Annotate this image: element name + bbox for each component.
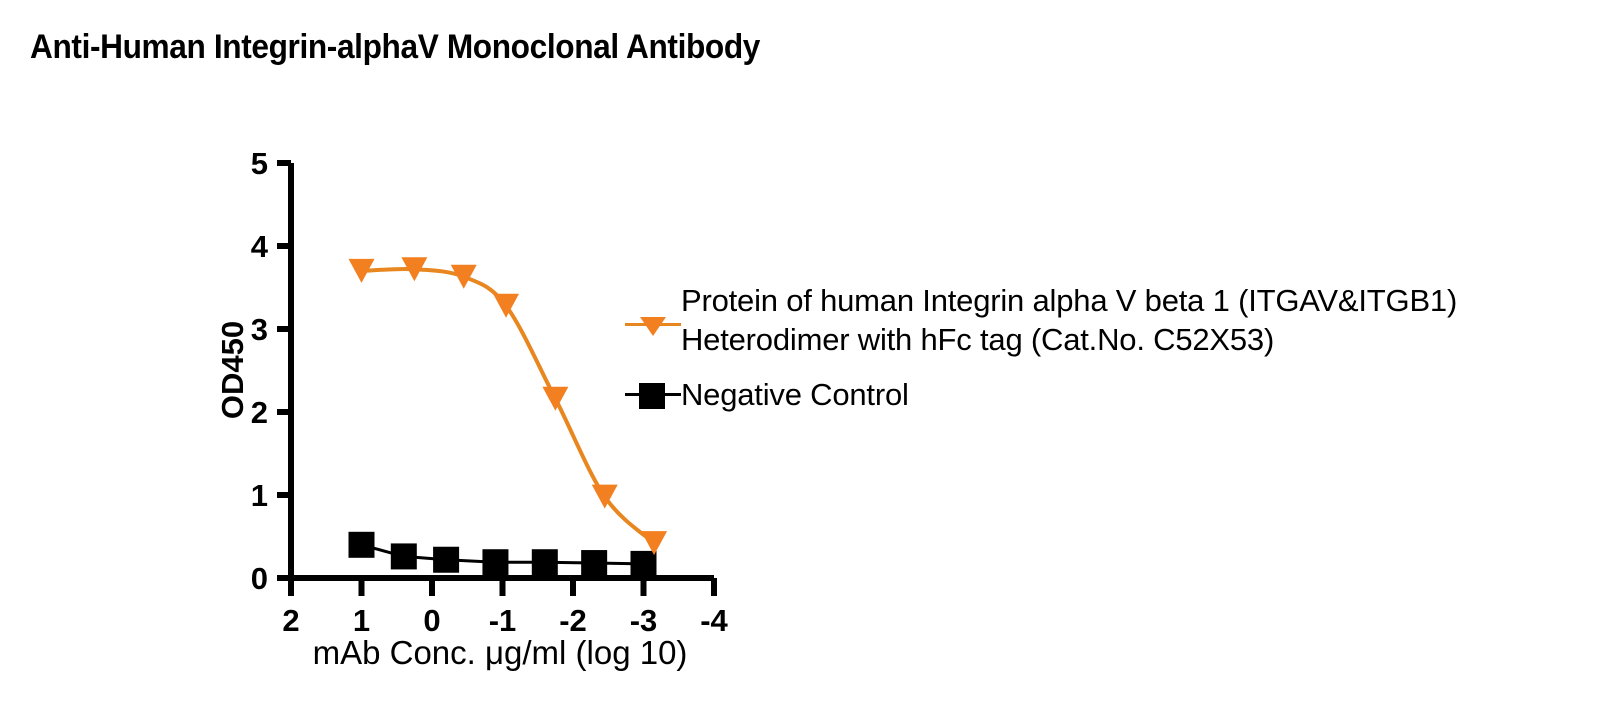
data-point-square — [349, 532, 375, 558]
triangle-down-icon — [640, 317, 666, 336]
x-axis-title: mAb Conc. μg/ml (log 10) — [313, 634, 688, 671]
x-tick-label: 0 — [423, 603, 440, 638]
data-point-square — [631, 551, 657, 577]
legend-key-square — [625, 379, 681, 409]
y-tick-label: 0 — [251, 561, 268, 596]
data-point-triangle — [592, 485, 618, 509]
y-tick-label: 3 — [251, 312, 268, 347]
legend-label-negative-control: Negative Control — [681, 375, 909, 414]
series-markers-protein — [349, 257, 668, 555]
y-tick-label: 1 — [251, 478, 268, 513]
y-tick-label: 2 — [251, 395, 268, 430]
legend-label-protein: Protein of human Integrin alpha V beta 1… — [681, 281, 1457, 359]
data-point-square — [391, 543, 417, 569]
chart-figure: Anti-Human Integrin-alphaV Monoclonal An… — [0, 0, 1600, 719]
data-point-triangle — [542, 387, 568, 411]
x-axis-tick-labels: 210-1-2-3-4 — [282, 603, 728, 638]
x-tick-label: 2 — [282, 603, 299, 638]
square-icon — [639, 383, 665, 409]
data-point-square — [532, 549, 558, 575]
legend-item-protein: Protein of human Integrin alpha V beta 1… — [625, 281, 1585, 359]
data-point-triangle — [493, 294, 519, 318]
data-point-square — [482, 549, 508, 575]
x-tick-label: -3 — [630, 603, 658, 638]
data-point-square — [581, 550, 607, 576]
y-axis-tick-labels: 012345 — [251, 146, 269, 596]
y-tick-label: 5 — [251, 146, 268, 181]
x-tick-label: -4 — [700, 603, 728, 638]
x-tick-label: 1 — [353, 603, 370, 638]
y-axis-title: OD450 — [215, 321, 250, 419]
data-point-triangle — [451, 265, 477, 289]
legend-item-negative-control: Negative Control — [625, 375, 1585, 414]
y-tick-label: 4 — [251, 229, 269, 264]
data-point-square — [433, 547, 459, 573]
legend-key-triangle — [625, 309, 681, 339]
series-markers-negative-control — [349, 532, 657, 577]
legend: Protein of human Integrin alpha V beta 1… — [625, 281, 1585, 430]
x-tick-label: -2 — [559, 603, 587, 638]
x-tick-label: -1 — [489, 603, 517, 638]
